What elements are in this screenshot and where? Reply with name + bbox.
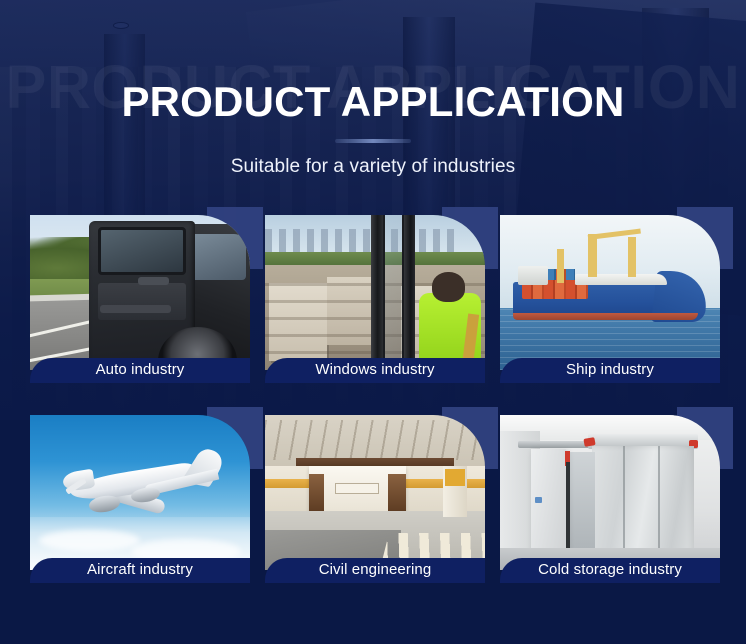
application-card-cold-storage-industry[interactable]: Cold storage industry [500, 415, 720, 583]
card-label-text: Ship industry [566, 361, 654, 378]
card-label-bar: Civil engineering [265, 558, 485, 583]
card-label-bar: Auto industry [30, 358, 250, 383]
card-label-bar: Cold storage industry [500, 558, 720, 583]
card-label-bar: Windows industry [265, 358, 485, 383]
card-label-bar: Ship industry [500, 358, 720, 383]
ship-industry-photo [500, 215, 720, 370]
civil-engineering-photo [265, 415, 485, 570]
card-label-text: Auto industry [96, 361, 185, 378]
application-card-civil-engineering[interactable]: Civil engineering [265, 415, 485, 583]
windows-industry-photo [265, 215, 485, 370]
application-card-grid: Auto industry Windows industry [0, 0, 746, 644]
card-label-text: Civil engineering [319, 561, 432, 578]
aircraft-industry-photo [30, 415, 250, 570]
card-label-text: Aircraft industry [87, 561, 193, 578]
auto-industry-photo [30, 215, 250, 370]
cold-storage-industry-photo [500, 415, 720, 570]
application-card-auto-industry[interactable]: Auto industry [30, 215, 250, 383]
application-card-aircraft-industry[interactable]: Aircraft industry [30, 415, 250, 583]
card-label-bar: Aircraft industry [30, 558, 250, 583]
product-application-section: PRODUCT APPLICATION PRODUCT APPLICATION … [0, 0, 746, 644]
application-card-windows-industry[interactable]: Windows industry [265, 215, 485, 383]
application-card-ship-industry[interactable]: Ship industry [500, 215, 720, 383]
card-label-text: Cold storage industry [538, 561, 682, 578]
card-label-text: Windows industry [315, 361, 434, 378]
